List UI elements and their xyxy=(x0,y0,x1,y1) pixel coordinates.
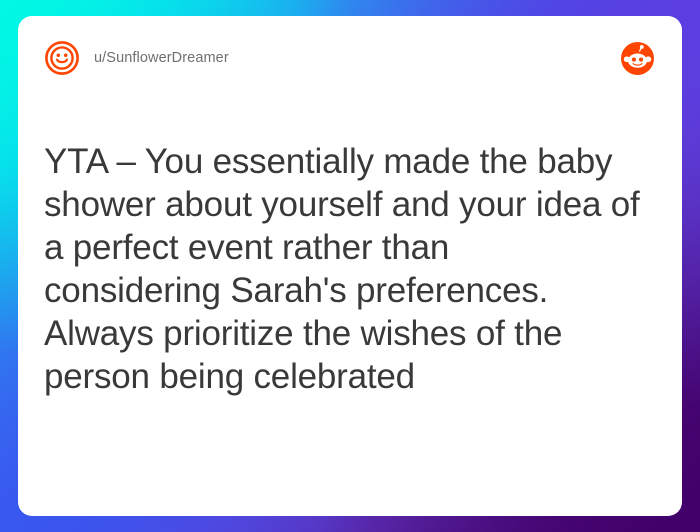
post-text-line: shower about yourself and your idea of xyxy=(44,183,656,226)
post-text-line: person being celebrated xyxy=(44,355,656,398)
reddit-snoo-logo-icon[interactable] xyxy=(621,42,654,75)
smiley-face-avatar-icon[interactable] xyxy=(44,40,80,76)
post-author-username[interactable]: u/SunflowerDreamer xyxy=(94,50,229,66)
post-text-line: YTA – You essentially made the baby xyxy=(44,140,656,183)
post-body-text: YTA – You essentially made the baby show… xyxy=(44,140,656,490)
post-text-line: a perfect event rather than xyxy=(44,226,656,269)
post-text-line: Always prioritize the wishes of the xyxy=(44,312,656,355)
gradient-background: u/SunflowerDreamer YTA – You esse xyxy=(0,0,700,532)
post-text-line: considering Sarah's preferences. xyxy=(44,269,656,312)
reddit-post-card: u/SunflowerDreamer YTA – You esse xyxy=(18,16,682,516)
post-header: u/SunflowerDreamer xyxy=(44,38,656,78)
